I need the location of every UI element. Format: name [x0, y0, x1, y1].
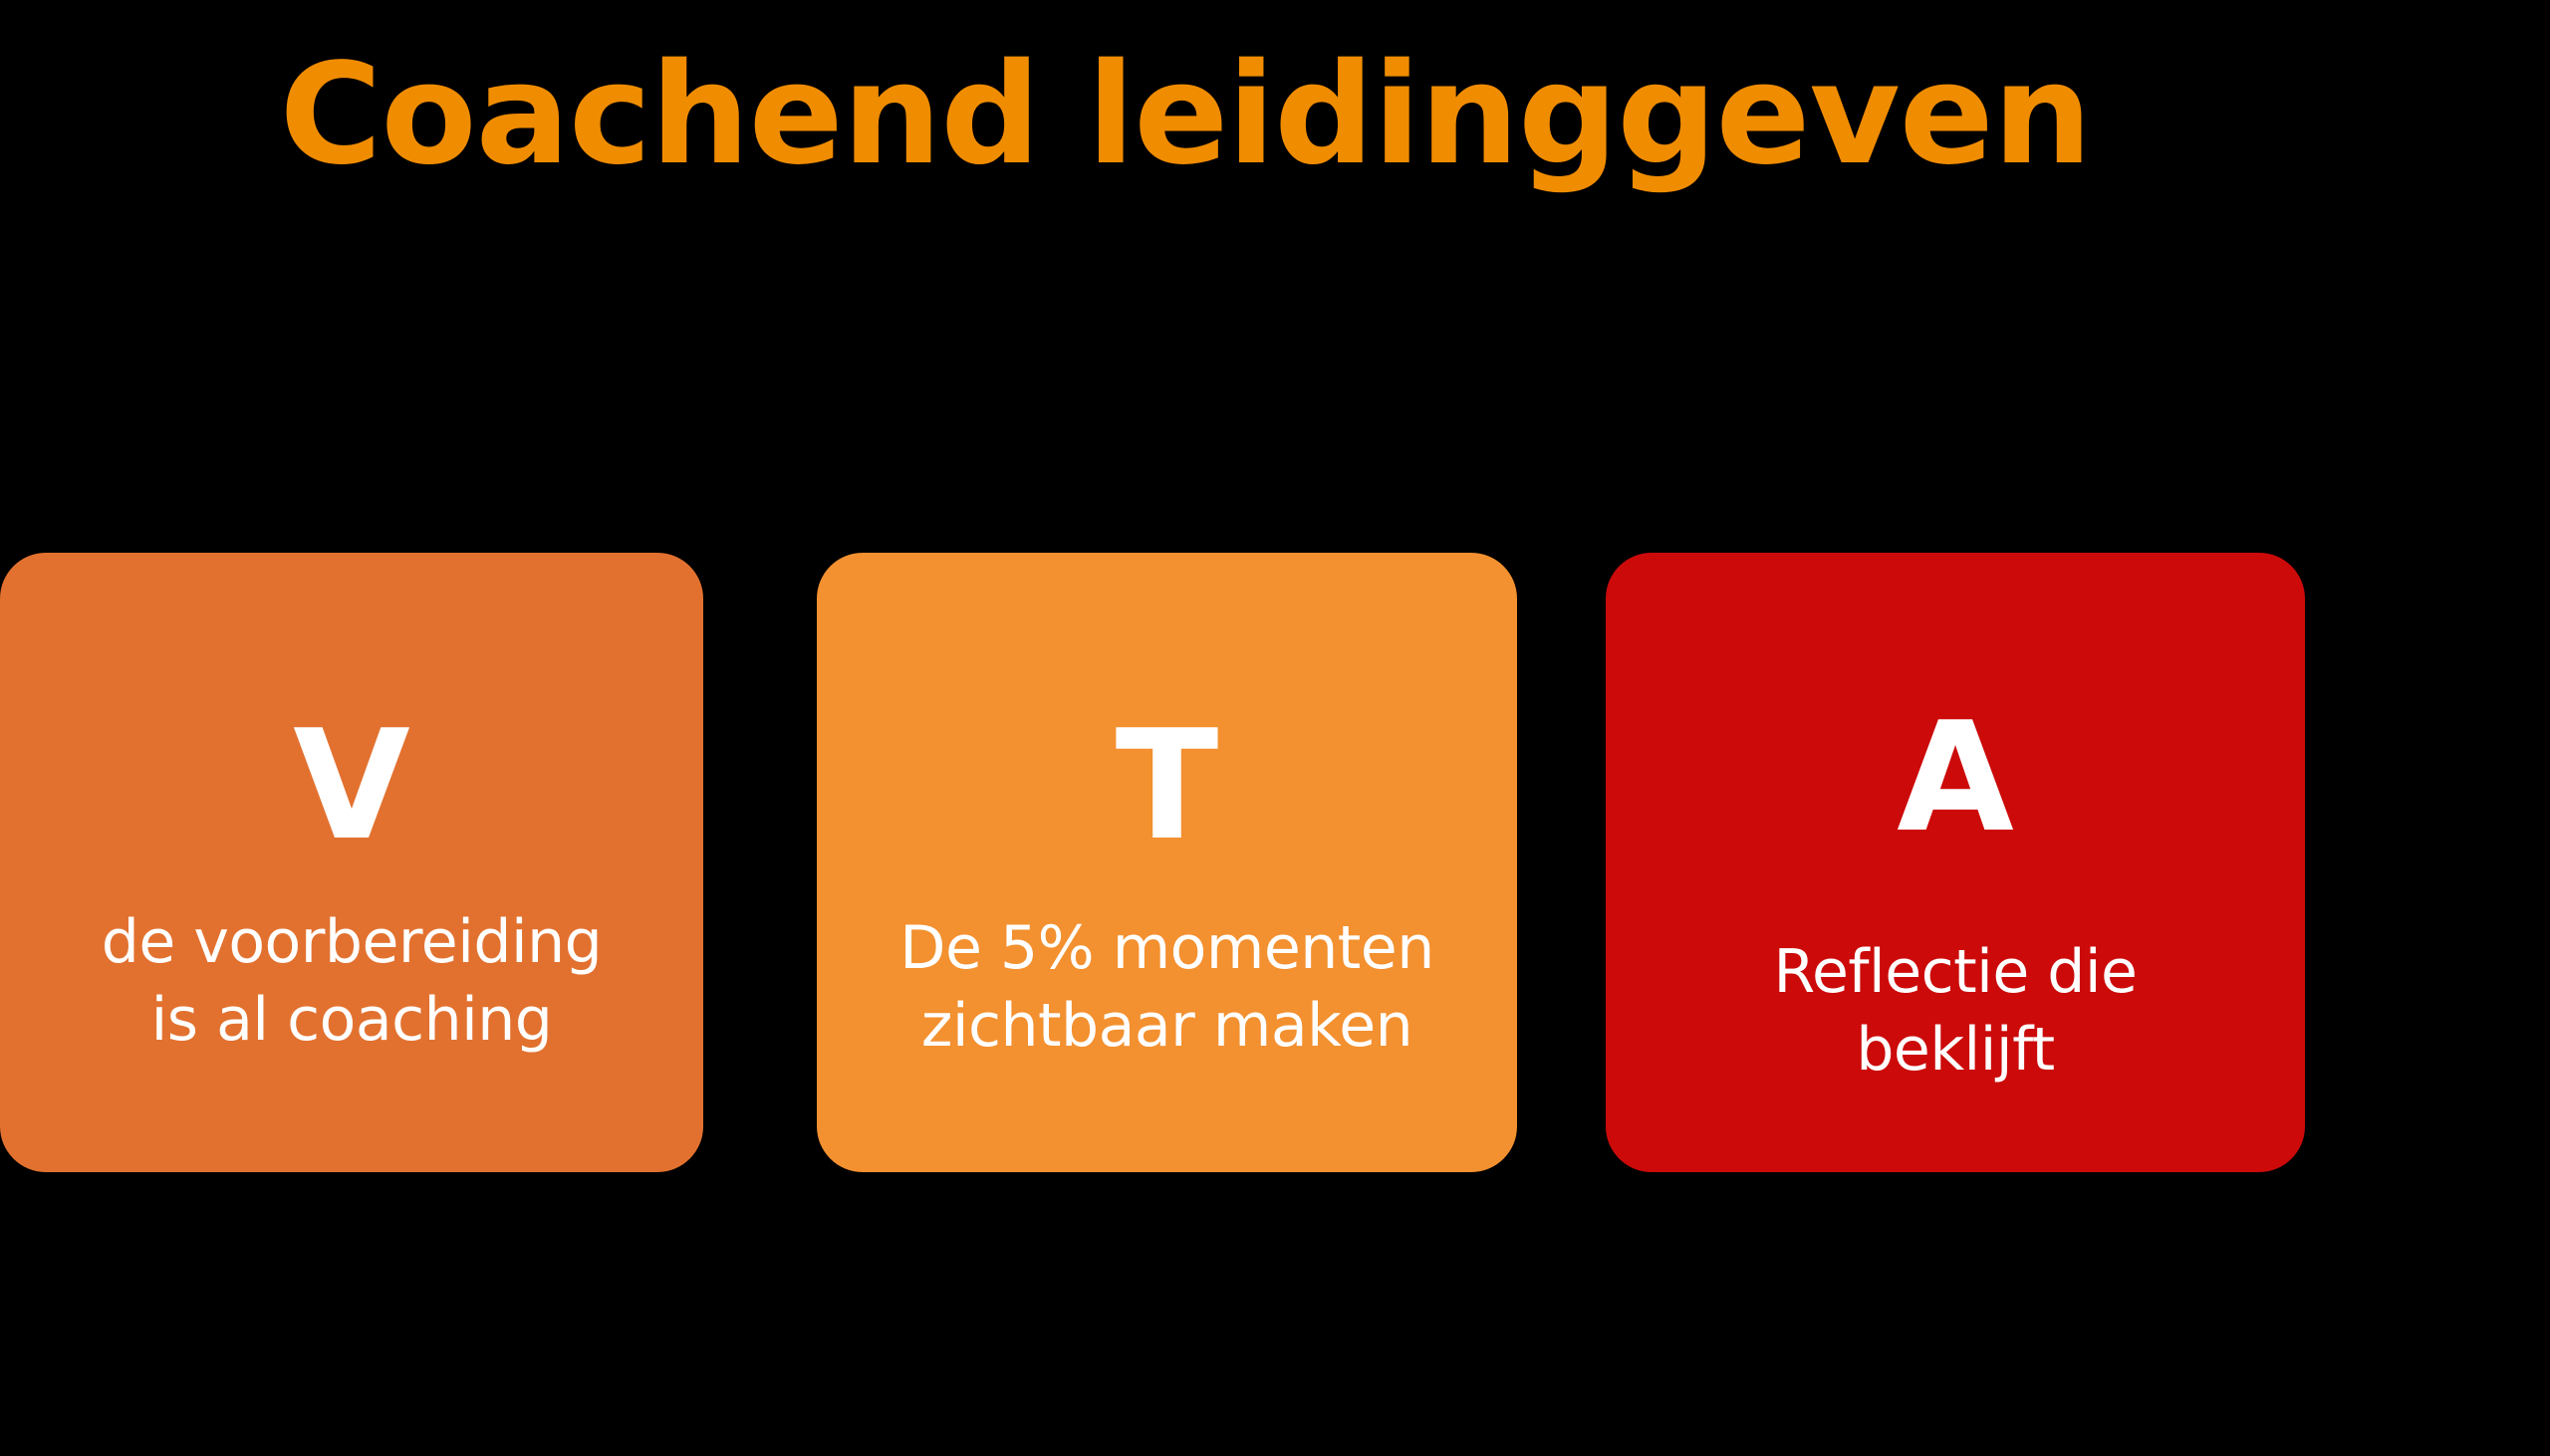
card-a[interactable]: A Reflectie die beklijft — [1606, 553, 2305, 1172]
card-row: V de voorbereiding is al coaching T De 5… — [0, 553, 2550, 1172]
card-subtitle-a: Reflectie die beklijft — [1606, 933, 2305, 1089]
card-t[interactable]: T De 5% momenten zichtbaar maken — [817, 553, 1517, 1172]
card-letter-a: A — [1897, 702, 2014, 853]
card-v[interactable]: V de voorbereiding is al coaching — [0, 553, 703, 1172]
card-subtitle-t: De 5% momenten zichtbaar maken — [817, 909, 1517, 1065]
slide-canvas: Coachend leidinggeven V de voorbereiding… — [0, 0, 2550, 1456]
card-letter-v: V — [293, 710, 410, 861]
page-title: Coachend leidinggeven — [0, 38, 2371, 194]
card-subtitle-v: de voorbereiding is al coaching — [0, 903, 703, 1059]
card-letter-t: T — [1116, 710, 1219, 861]
